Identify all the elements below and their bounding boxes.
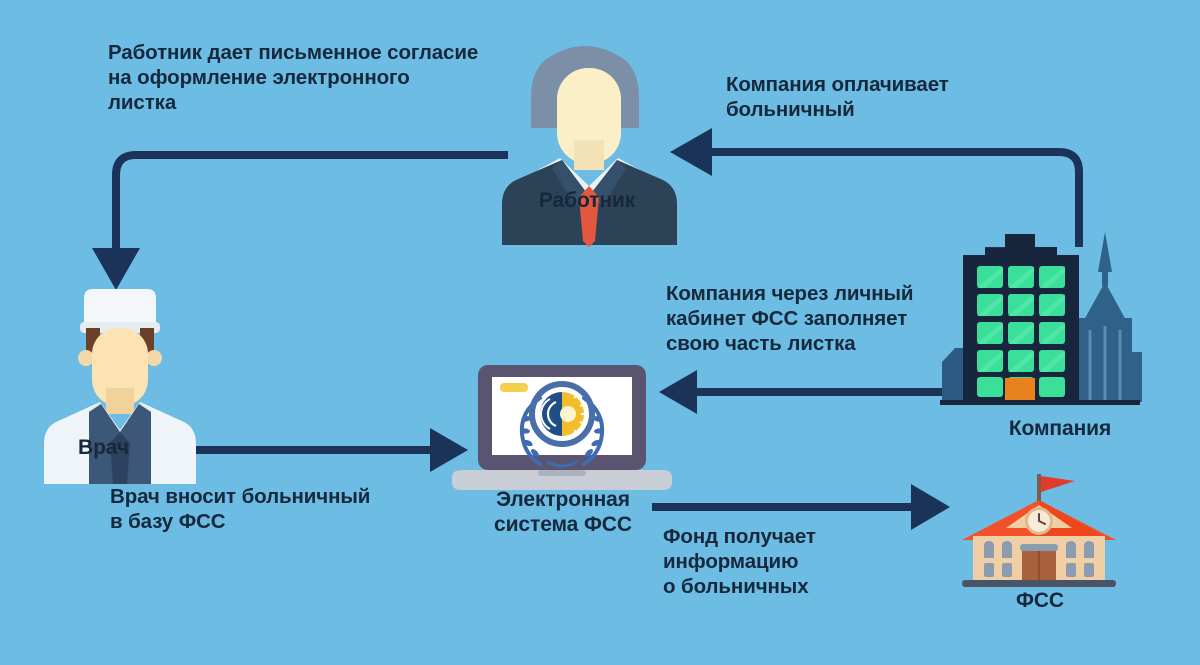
infographic-canvas: Работник дает письменное согласие на офо… [0, 0, 1200, 665]
arrow-company-to-worker [670, 128, 1079, 247]
arrow-company-to-laptop [659, 370, 957, 414]
node-label-company: Компания [960, 416, 1160, 442]
node-label-electronic-system: Электронная система ФСС [468, 487, 658, 537]
node-label-worker: Работник [487, 188, 687, 214]
flow-label-payment: Компания оплачивает больничный [726, 72, 1026, 122]
skyscraper-shape [1068, 232, 1142, 402]
laptop-icon [452, 365, 672, 490]
institution-building-icon [962, 474, 1116, 587]
node-label-fss: ФСС [960, 588, 1120, 614]
flow-label-consent: Работник дает письменное согласие на офо… [108, 40, 548, 115]
flow-label-doctor-db: Врач вносит больничный в базу ФСС [110, 484, 450, 534]
flow-label-fund-info: Фонд получает информацию о больничных [663, 524, 953, 599]
arrow-worker-to-doctor [92, 155, 508, 290]
flow-label-cabinet: Компания через личный кабинет ФСС заполн… [666, 281, 976, 356]
building-windows [977, 266, 1065, 397]
node-label-doctor: Врач [78, 435, 129, 461]
